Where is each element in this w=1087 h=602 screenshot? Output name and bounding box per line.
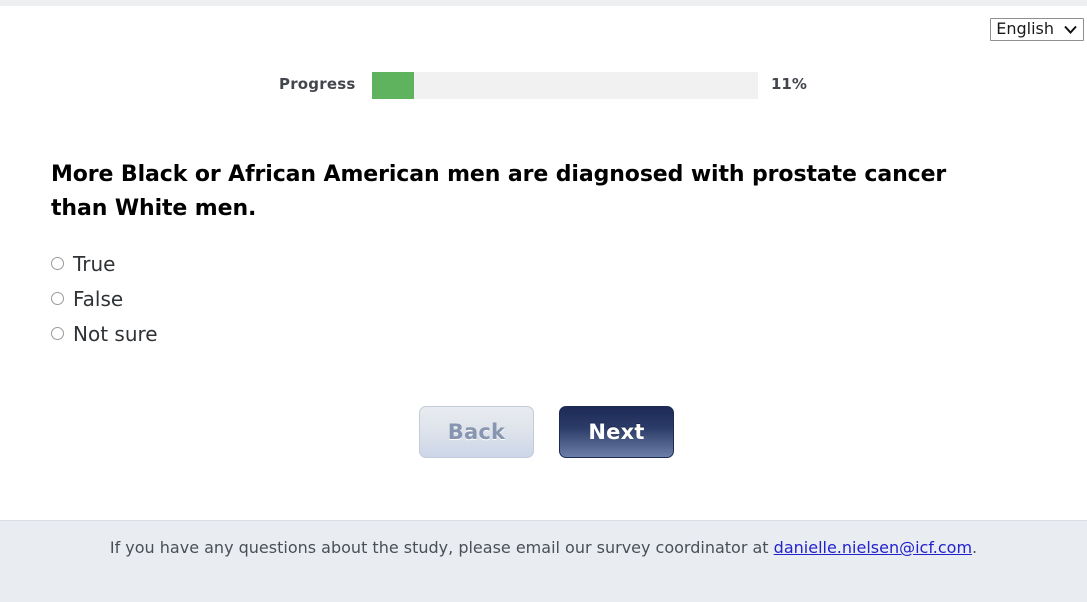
back-button[interactable]: Back (419, 406, 534, 458)
question-text: More Black or African American men are d… (51, 158, 996, 226)
survey-coordinator-email-link[interactable]: danielle.nielsen@icf.com (774, 538, 972, 557)
answer-option-true[interactable]: True (51, 246, 158, 281)
footer-text-before-link: If you have any questions about the stud… (110, 538, 774, 557)
language-select[interactable]: English (990, 18, 1084, 41)
footer-text: If you have any questions about the stud… (0, 535, 1087, 560)
progress-bar-track (372, 72, 758, 99)
progress-bar-fill (372, 72, 414, 99)
progress-row: Progress 11% (0, 69, 1087, 103)
survey-page: English Progress 11% More Black or Afric… (0, 0, 1087, 602)
answer-option-false[interactable]: False (51, 281, 158, 316)
progress-percent-text: 11% (771, 75, 807, 93)
survey-content: English Progress 11% More Black or Afric… (0, 6, 1087, 520)
progress-label: Progress (279, 75, 355, 93)
next-button[interactable]: Next (559, 406, 674, 458)
language-selector-wrapper: English (990, 18, 1084, 41)
navigation-buttons: Back Next (419, 406, 674, 458)
page-footer: If you have any questions about the stud… (0, 520, 1087, 602)
footer-text-after-link: . (972, 538, 977, 557)
radio-button-icon[interactable] (51, 257, 64, 270)
radio-button-icon[interactable] (51, 327, 64, 340)
answer-option-label: True (73, 254, 115, 274)
radio-button-icon[interactable] (51, 292, 64, 305)
answer-options-list: True False Not sure (51, 246, 158, 351)
language-select-value: English (996, 21, 1054, 37)
answer-option-label: False (73, 289, 123, 309)
answer-option-not-sure[interactable]: Not sure (51, 316, 158, 351)
answer-option-label: Not sure (73, 324, 158, 344)
chevron-down-icon (1064, 25, 1077, 34)
